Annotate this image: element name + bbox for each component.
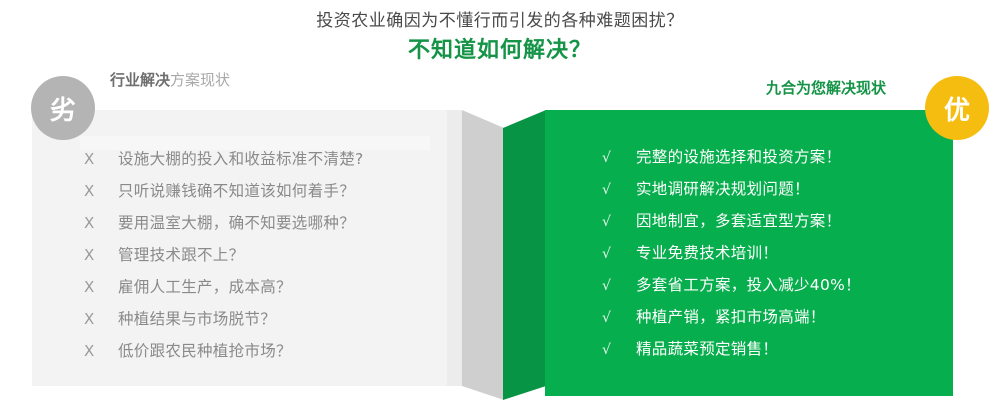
cross-icon: X (84, 207, 118, 239)
list-item-label: 设施大棚的投入和收益标准不清楚? (118, 143, 364, 175)
list-item-label: 只听说赚钱确不知道该如何着手？ (118, 175, 355, 207)
list-item: √ 实地调研解决规划问题！ (602, 173, 942, 205)
problem-list: X 设施大棚的投入和收益标准不清楚? X 只听说赚钱确不知道该如何着手？ X 要… (84, 143, 444, 367)
badge-superior-label: 优 (944, 90, 970, 127)
list-item-label: 低价跟农民种植抢市场？ (118, 335, 292, 367)
cross-icon: X (84, 303, 118, 335)
list-item: X 种植结果与市场脱节？ (84, 303, 444, 335)
list-item-label: 因地制宜，多套适宜型方案！ (636, 205, 841, 237)
list-item-label: 管理技术跟不上？ (118, 239, 244, 271)
list-item: √ 专业免费技术培训！ (602, 237, 942, 269)
list-item: X 低价跟农民种植抢市场？ (84, 335, 444, 367)
ribbon-fold-gray (462, 96, 504, 400)
list-item-label: 完整的设施选择和投资方案！ (636, 141, 841, 173)
left-subheading-rest: 方案现状 (170, 71, 230, 89)
cross-icon: X (84, 335, 118, 367)
headline-block: 投资农业确因为不懂行而引发的各种难题困扰？ 不知道如何解决？ (0, 8, 1000, 66)
list-item-label: 种植产销，紧扣市场高端！ (636, 301, 826, 333)
list-item-label: 专业免费技术培训！ (636, 237, 778, 269)
list-item: √ 完整的设施选择和投资方案！ (602, 141, 942, 173)
right-panel-subheading: 九合为您解决现状 (766, 78, 886, 98)
ribbon-fold-green (503, 96, 546, 400)
check-icon: √ (602, 302, 636, 334)
list-item-label: 种植结果与市场脱节？ (118, 303, 276, 335)
list-item: X 要用温室大棚，确不知要选哪种？ (84, 207, 444, 239)
cross-icon: X (84, 175, 118, 207)
badge-superior: 优 (925, 76, 989, 140)
headline-secondary: 不知道如何解决？ (0, 36, 1000, 66)
check-icon: √ (602, 142, 636, 174)
comparison-banner: 投资农业确因为不懂行而引发的各种难题困扰？ 不知道如何解决？ 行业解决方案现状 … (0, 0, 1000, 416)
badge-inferior: 劣 (31, 76, 95, 140)
left-panel-subheading: 行业解决方案现状 (110, 70, 230, 90)
left-panel-inner-edge (447, 110, 462, 386)
check-icon: √ (602, 270, 636, 302)
list-item: X 雇佣人工生产，成本高？ (84, 271, 444, 303)
check-icon: √ (602, 334, 636, 366)
cross-icon: X (84, 143, 118, 175)
list-item-label: 多套省工方案，投入减少40%！ (636, 269, 861, 301)
headline-primary: 投资农业确因为不懂行而引发的各种难题困扰？ (0, 8, 1000, 34)
badge-inferior-label: 劣 (50, 90, 76, 127)
list-item-label: 要用温室大棚，确不知要选哪种？ (118, 207, 355, 239)
list-item: √ 种植产销，紧扣市场高端！ (602, 301, 942, 333)
list-item: √ 因地制宜，多套适宜型方案！ (602, 205, 942, 237)
cross-icon: X (84, 271, 118, 303)
check-icon: √ (602, 174, 636, 206)
list-item: √ 多套省工方案，投入减少40%！ (602, 269, 942, 301)
list-item-label: 实地调研解决规划问题！ (636, 173, 810, 205)
list-item: √ 精品蔬菜预定销售！ (602, 333, 942, 365)
check-icon: √ (602, 238, 636, 270)
solution-list: √ 完整的设施选择和投资方案！ √ 实地调研解决规划问题！ √ 因地制宜，多套适… (602, 141, 942, 365)
list-item: X 只听说赚钱确不知道该如何着手？ (84, 175, 444, 207)
list-item: X 设施大棚的投入和收益标准不清楚? (84, 143, 444, 175)
list-item-label: 精品蔬菜预定销售！ (636, 333, 778, 365)
check-icon: √ (602, 206, 636, 238)
list-item-label: 雇佣人工生产，成本高？ (118, 271, 292, 303)
left-subheading-strong: 行业解决 (110, 71, 170, 89)
cross-icon: X (84, 239, 118, 271)
list-item: X 管理技术跟不上？ (84, 239, 444, 271)
